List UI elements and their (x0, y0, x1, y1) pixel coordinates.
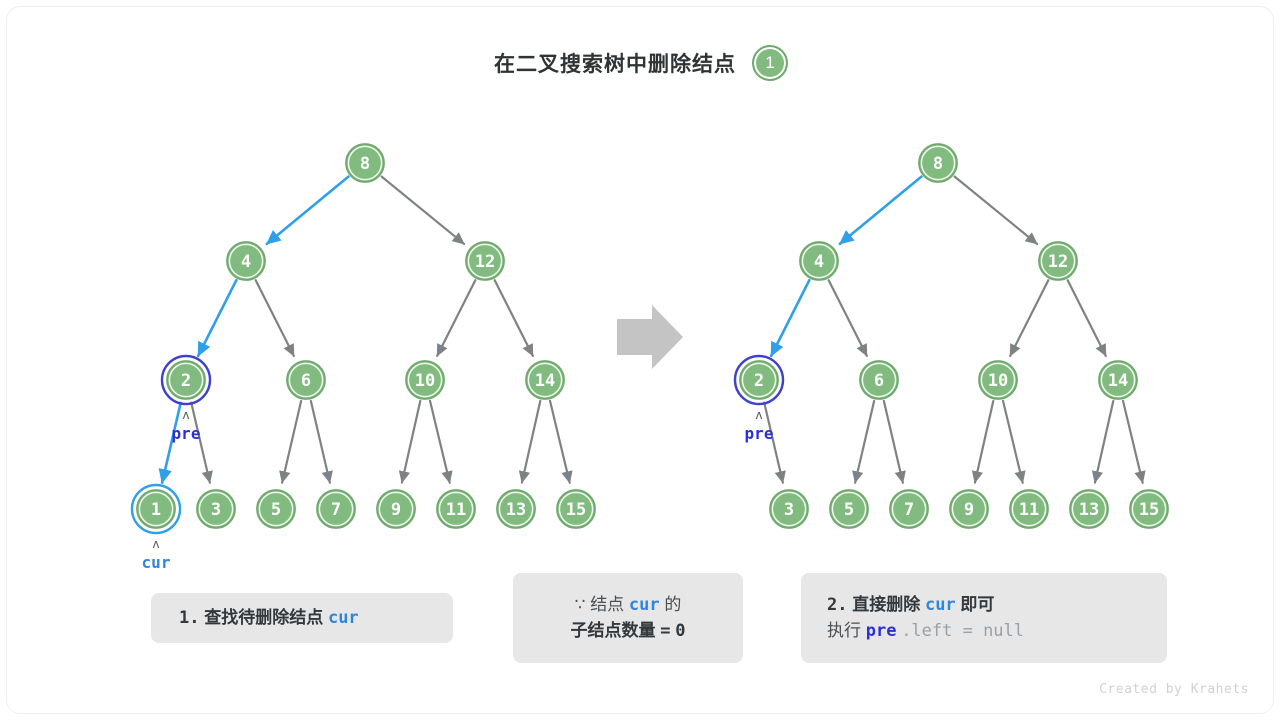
pointer-cur-left: ʌcur (142, 537, 171, 572)
tree-edge-L2-L1 (162, 401, 181, 483)
pointer-labels: ʌpreʌcurʌpre (142, 408, 774, 572)
tree-nodes: 8412261014135791113158412261014357911131… (132, 144, 1168, 533)
node-circle (1130, 490, 1168, 528)
tree-edge-L12-L10 (437, 280, 475, 356)
ring-gap (135, 488, 177, 530)
node-circle (137, 490, 175, 528)
caption-step-1: 1. 查找待删除结点 cur (151, 593, 453, 643)
tree-edge-L10-L9 (402, 401, 420, 483)
node-label: 14 (1108, 371, 1128, 391)
node-label: 8 (933, 154, 943, 174)
node-label: 5 (271, 500, 281, 520)
node-circle (437, 490, 475, 528)
node-label: 12 (475, 252, 495, 272)
node-circle (950, 490, 988, 528)
tree-node-right-6: 6 (860, 361, 898, 399)
node-label: 7 (904, 500, 914, 520)
node-circle (740, 361, 778, 399)
page-title-text: 在二叉搜索树中删除结点 (494, 48, 736, 78)
node-inner-ring (139, 492, 172, 525)
tree-edges (162, 177, 1143, 483)
caret-up-icon: ʌ (755, 408, 762, 422)
tree-edge-R4-R6 (829, 280, 867, 356)
node-circle (466, 242, 504, 280)
node-label: 3 (784, 500, 794, 520)
tree-node-right-14: 14 (1099, 361, 1137, 399)
caret-up-icon: ʌ (152, 537, 159, 551)
node-inner-ring (952, 492, 985, 525)
node-circle (860, 361, 898, 399)
caption-step-1-line: 1. 查找待删除结点 cur (179, 605, 453, 631)
tree-node-right-5: 5 (830, 490, 868, 528)
tree-node-left-14: 14 (526, 361, 564, 399)
node-label: 9 (964, 500, 974, 520)
tree-edge-L6-L7 (311, 401, 330, 483)
node-label: 6 (301, 371, 311, 391)
tree-node-left-2: 2 (162, 356, 210, 404)
node-circle (1070, 490, 1108, 528)
node-circle (557, 490, 595, 528)
tree-edge-L10-L11 (430, 401, 450, 483)
node-inner-ring (1012, 492, 1045, 525)
caption-step-2-tail: 即可 (960, 595, 994, 614)
tree-node-right-2: 2 (735, 356, 783, 404)
caption-condition-text-2: 的 (664, 595, 681, 614)
node-circle (346, 144, 384, 182)
node-inner-ring (319, 492, 352, 525)
node-label: 10 (415, 371, 435, 391)
tree-node-left-5: 5 (257, 490, 295, 528)
node-inner-ring (1132, 492, 1165, 525)
pointer-pre-left: ʌpre (172, 408, 201, 443)
node-label: 4 (241, 252, 251, 272)
caption-step-1-number: 1. (179, 608, 199, 628)
tree-edge-L14-L13 (522, 401, 540, 483)
caption-step-2: 2. 直接删除 cur 即可 执行 pre .left = null (801, 573, 1167, 663)
tree-edge-R6-R5 (855, 401, 874, 483)
tree-node-right-9: 9 (950, 490, 988, 528)
node-inner-ring (559, 492, 592, 525)
node-circle (377, 490, 415, 528)
caption-condition-equals: = (660, 621, 670, 641)
node-label: 13 (1079, 500, 1099, 520)
tree-edge-L12-L14 (495, 280, 533, 356)
tree-node-left-11: 11 (437, 490, 475, 528)
node-circle (197, 490, 235, 528)
pre-highlight-ring (162, 356, 210, 404)
node-circle (257, 490, 295, 528)
node-inner-ring (169, 363, 202, 396)
node-circle (770, 490, 808, 528)
node-circle (526, 361, 564, 399)
ring-gap (738, 359, 780, 401)
tree-node-left-12: 12 (466, 242, 504, 280)
caption-step-1-token: cur (328, 608, 359, 628)
caption-step-2-code: .left = null (901, 621, 1024, 641)
node-circle (1099, 361, 1137, 399)
tree-edge-R4-R2 (771, 280, 809, 356)
node-label: 15 (1139, 500, 1159, 520)
node-inner-ring (408, 363, 441, 396)
node-label: 6 (874, 371, 884, 391)
node-inner-ring (379, 492, 412, 525)
node-circle (167, 361, 205, 399)
node-circle (1010, 490, 1048, 528)
tree-node-left-7: 7 (317, 490, 355, 528)
caption-condition: ∵ 结点 cur 的 子结点数量 = 0 (513, 573, 743, 663)
tree-edge-R10-R11 (1003, 401, 1023, 483)
tree-edge-R12-R10 (1010, 280, 1048, 356)
node-label: 11 (446, 500, 466, 520)
tree-edge-L2-L3 (191, 401, 210, 483)
tree-node-right-3: 3 (770, 490, 808, 528)
node-inner-ring (289, 363, 322, 396)
node-circle (287, 361, 325, 399)
node-inner-ring (1072, 492, 1105, 525)
node-inner-ring (199, 492, 232, 525)
caption-condition-count-label: 子结点数量 (571, 621, 656, 640)
caption-step-2-line-2: 执行 pre .left = null (827, 618, 1167, 644)
node-label: 9 (391, 500, 401, 520)
tree-node-right-10: 10 (979, 361, 1017, 399)
node-label: 13 (506, 500, 526, 520)
tree-edge-L8-L12 (382, 177, 464, 244)
node-label: 15 (566, 500, 586, 520)
page-title: 在二叉搜索树中删除结点 1 (7, 40, 1274, 86)
node-label: 2 (754, 371, 764, 391)
tree-node-right-7: 7 (890, 490, 928, 528)
tree-edge-R2-R3 (764, 401, 783, 483)
tree-node-right-13: 13 (1070, 490, 1108, 528)
caption-condition-text-1: 结点 (590, 595, 624, 614)
node-inner-ring (229, 244, 262, 277)
tree-edge-L8-L4 (267, 177, 349, 244)
tree-node-right-11: 11 (1010, 490, 1048, 528)
pre-highlight-ring (735, 356, 783, 404)
caption-step-2-text: 直接删除 (852, 595, 920, 614)
node-circle (1039, 242, 1077, 280)
node-label: 4 (814, 252, 824, 272)
tree-node-left-6: 6 (287, 361, 325, 399)
node-label: 7 (331, 500, 341, 520)
node-inner-ring (1041, 244, 1074, 277)
tree-node-left-4: 4 (227, 242, 265, 280)
tree-node-right-4: 4 (800, 242, 838, 280)
footer-credit: Created by Krahets (1099, 682, 1249, 697)
node-inner-ring (499, 492, 532, 525)
node-inner-ring (439, 492, 472, 525)
node-inner-ring (1101, 363, 1134, 396)
tree-edge-R8-R4 (840, 177, 922, 244)
cur-highlight-ring (132, 485, 180, 533)
node-inner-ring (981, 363, 1014, 396)
node-label: 8 (360, 154, 370, 174)
tree-edge-R14-R13 (1095, 401, 1113, 483)
pointer-pre-right: ʌpre (745, 408, 774, 443)
tree-edge-R12-R14 (1068, 280, 1106, 356)
node-label: 3 (211, 500, 221, 520)
node-inner-ring (348, 146, 381, 179)
node-inner-ring (921, 146, 954, 179)
node-label: 11 (1019, 500, 1039, 520)
tree-node-left-8: 8 (346, 144, 384, 182)
node-label: 14 (535, 371, 555, 391)
node-circle (830, 490, 868, 528)
node-inner-ring (468, 244, 501, 277)
tree-node-left-13: 13 (497, 490, 535, 528)
because-symbol: ∵ (575, 595, 586, 614)
ring-gap (165, 359, 207, 401)
node-label: 10 (988, 371, 1008, 391)
pointer-label: pre (172, 424, 201, 443)
tree-edge-R6-R7 (884, 401, 903, 483)
node-circle (406, 361, 444, 399)
node-label: 2 (181, 371, 191, 391)
node-circle (890, 490, 928, 528)
node-inner-ring (259, 492, 292, 525)
tree-node-left-9: 9 (377, 490, 415, 528)
caret-up-icon: ʌ (182, 408, 189, 422)
caption-step-2-exec-label: 执行 (827, 621, 861, 640)
caption-condition-line-1: ∵ 结点 cur 的 (575, 592, 682, 618)
tree-node-right-8: 8 (919, 144, 957, 182)
tree-edge-L14-L15 (550, 401, 570, 483)
tree-node-left-3: 3 (197, 490, 235, 528)
node-circle (497, 490, 535, 528)
node-circle (317, 490, 355, 528)
caption-step-2-token: cur (925, 595, 956, 615)
node-circle (227, 242, 265, 280)
pointer-label: pre (745, 424, 774, 443)
node-circle (800, 242, 838, 280)
tree-edge-L4-L6 (256, 280, 294, 356)
caption-step-1-text: 查找待删除结点 (204, 608, 323, 627)
tree-edge-R10-R9 (975, 401, 993, 483)
tree-node-right-15: 15 (1130, 490, 1168, 528)
node-inner-ring (892, 492, 925, 525)
tree-edge-R8-R12 (955, 177, 1037, 244)
node-inner-ring (832, 492, 865, 525)
caption-step-2-number: 2. (827, 595, 847, 615)
caption-condition-value: 0 (675, 621, 685, 641)
node-circle (919, 144, 957, 182)
step-badge: 1 (752, 45, 788, 81)
tree-edge-R14-R15 (1123, 401, 1143, 483)
tree-edge-L6-L5 (282, 401, 301, 483)
tree-node-left-15: 15 (557, 490, 595, 528)
node-label: 5 (844, 500, 854, 520)
node-inner-ring (528, 363, 561, 396)
node-label: 1 (151, 500, 161, 520)
caption-step-2-pre-token: pre (866, 621, 897, 641)
tree-node-left-1: 1 (132, 485, 180, 533)
node-inner-ring (862, 363, 895, 396)
node-inner-ring (802, 244, 835, 277)
tree-node-right-12: 12 (1039, 242, 1077, 280)
node-inner-ring (742, 363, 775, 396)
node-inner-ring (772, 492, 805, 525)
node-circle (979, 361, 1017, 399)
diagram-card: 在二叉搜索树中删除结点 1 84122610141357911131584122… (6, 6, 1274, 714)
tree-node-left-10: 10 (406, 361, 444, 399)
node-label: 12 (1048, 252, 1068, 272)
arrow-right-icon (617, 305, 683, 369)
tree-edge-L4-L2 (198, 280, 236, 356)
caption-step-2-line-1: 2. 直接删除 cur 即可 (827, 592, 1167, 618)
caption-condition-line-2: 子结点数量 = 0 (571, 618, 686, 644)
caption-condition-token: cur (629, 595, 660, 615)
pointer-label: cur (142, 553, 171, 572)
